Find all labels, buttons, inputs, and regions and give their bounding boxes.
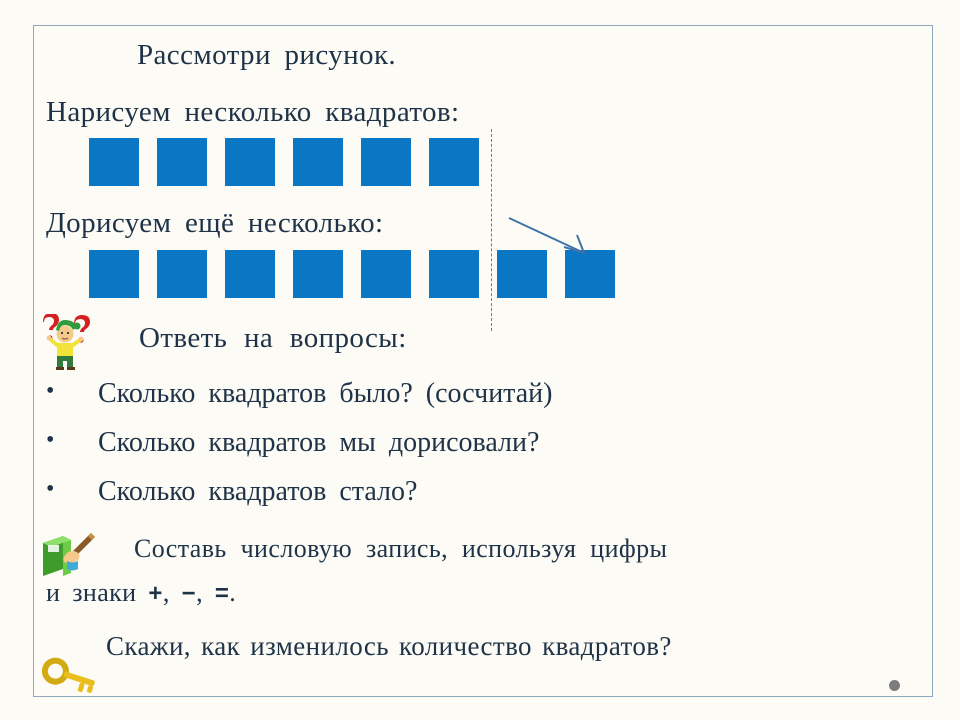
question-list-item: •Сколько квадратов стало?	[46, 476, 417, 508]
task-prefix-text: и знаки	[46, 578, 137, 607]
square-shape	[293, 138, 343, 186]
minus-sign: −	[182, 580, 196, 607]
slide-canvas: Рассмотри рисунок. Нарисуем несколько кв…	[33, 25, 933, 697]
task-instruction-line-2: и знаки +, −, =.	[46, 578, 236, 608]
page-title: Рассмотри рисунок.	[137, 39, 396, 72]
square-shape	[157, 138, 207, 186]
question-text: Сколько квадратов стало?	[98, 476, 417, 507]
instruction-draw-more: Дорисуем ещё несколько:	[46, 207, 384, 240]
square-shape	[361, 250, 411, 298]
bullet-marker: •	[46, 476, 98, 503]
equals-sign: =	[215, 580, 229, 607]
bullet-marker: •	[46, 427, 98, 454]
arrow-down-right-icon	[506, 214, 596, 260]
task-suffix-text: .	[229, 578, 236, 607]
question-text: Сколько квадратов было? (сосчитай)	[98, 378, 553, 409]
square-shape	[225, 138, 275, 186]
square-shape	[89, 250, 139, 298]
sign-separator: ,	[163, 578, 170, 607]
question-list-item: •Сколько квадратов мы дорисовали?	[46, 427, 539, 459]
square-shape	[225, 250, 275, 298]
notebook-pencil-icon	[39, 531, 97, 583]
sign-separator: ,	[196, 578, 203, 607]
question-list-item: •Сколько квадратов было? (сосчитай)	[46, 378, 553, 410]
square-shape	[361, 138, 411, 186]
plus-sign: +	[148, 580, 162, 607]
square-shape	[429, 138, 479, 186]
question-text: Сколько квадратов мы дорисовали?	[98, 427, 539, 458]
bullet-dot-icon	[889, 680, 900, 691]
squares-row-initial	[89, 138, 497, 186]
square-shape	[89, 138, 139, 186]
elf-question-icon	[39, 314, 91, 370]
bullet-marker: •	[46, 378, 98, 405]
square-shape	[293, 250, 343, 298]
final-question-line: Скажи, как изменилось количество квадрат…	[106, 631, 672, 662]
square-shape	[157, 250, 207, 298]
answer-prompt: Ответь на вопросы:	[139, 322, 407, 355]
key-icon	[39, 654, 101, 702]
task-instruction-line-1: Составь числовую запись, используя цифры	[134, 534, 667, 564]
instruction-draw-some: Нарисуем несколько квадратов:	[46, 96, 460, 129]
square-shape	[429, 250, 479, 298]
dashed-divider-line	[491, 129, 492, 331]
